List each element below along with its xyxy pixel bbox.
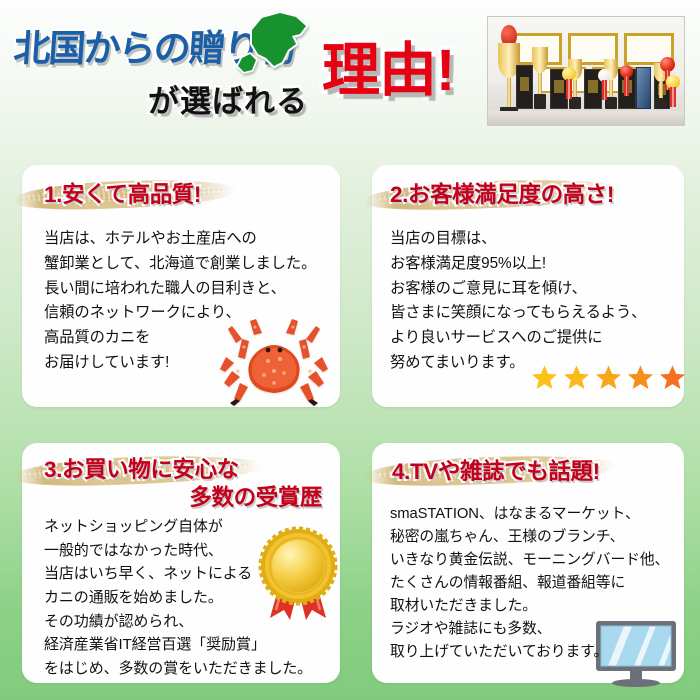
reason-card-4-heading: 4.TVや雑誌でも話題! xyxy=(392,459,600,485)
reason-card-1-heading: 1.安くて高品質! xyxy=(44,182,201,208)
reason-card-1: 1.安くて高品質! 当店は、ホテルやお土産店への 蟹卸業として、北海道で創業しま… xyxy=(22,165,340,407)
star-icon xyxy=(594,363,623,392)
hokkaido-map-icon xyxy=(222,10,314,80)
reason-card-2-body: 当店の目標は、 お客様満足度95%以上! お客様のご意見に耳を傾け、 皆さまに笑… xyxy=(390,227,646,376)
reason-card-3-heading-line1: 3.お買い物に安心な xyxy=(44,457,239,483)
reason-card-3: 3.お買い物に安心な 多数の受賞歴 ネットショッピング自体が 一般的ではなかった… xyxy=(22,443,340,683)
award-plaque xyxy=(516,65,533,109)
page-header: 北国からの贈り物 が選ばれる 理由! xyxy=(0,0,700,140)
ribbon-rosette xyxy=(666,75,680,107)
reasons-grid: 1.安くて高品質! 当店は、ホテルやお土産店への 蟹卸業として、北海道で創業しま… xyxy=(0,140,700,700)
header-reason-headline: 理由! xyxy=(322,42,454,100)
reason-card-2: 2.お客様満足度の高さ! 当店の目標は、 お客様満足度95%以上! お客様のご意… xyxy=(372,165,684,407)
ribbon-rosette xyxy=(598,69,611,100)
star-icon xyxy=(658,363,687,392)
star-rating xyxy=(530,363,687,392)
ribbon-rosette xyxy=(620,65,633,96)
star-icon xyxy=(562,363,591,392)
awards-photo xyxy=(487,16,685,126)
header-subline: が選ばれる xyxy=(148,76,308,121)
star-icon xyxy=(626,363,655,392)
reason-card-4-body: smaSTATION、はなまるマーケット、 秘密の嵐ちゃん、王様のブランチ、 い… xyxy=(390,503,669,663)
ribbon-rosette xyxy=(562,67,576,99)
star-icon xyxy=(530,363,559,392)
photo-shelf xyxy=(488,111,684,125)
reason-card-4: 4.TVや雑誌でも話題! smaSTATION、はなまるマーケット、 秘密の嵐ち… xyxy=(372,443,684,683)
brand-logo[interactable]: 北国からの贈り物 xyxy=(14,14,304,76)
reason-card-3-body: ネットショッピング自体が 一般的ではなかった時代、 当店はいち早く、ネットによる… xyxy=(44,515,312,681)
trophy xyxy=(532,47,548,109)
reason-card-2-heading: 2.お客様満足度の高さ! xyxy=(390,182,614,208)
glass-award xyxy=(636,67,651,109)
reason-card-3-heading-line2: 多数の受賞歴 xyxy=(189,485,322,511)
reason-card-1-body: 当店は、ホテルやお土産店への 蟹卸業として、北海道で創業しました。 長い間に培わ… xyxy=(44,227,316,376)
